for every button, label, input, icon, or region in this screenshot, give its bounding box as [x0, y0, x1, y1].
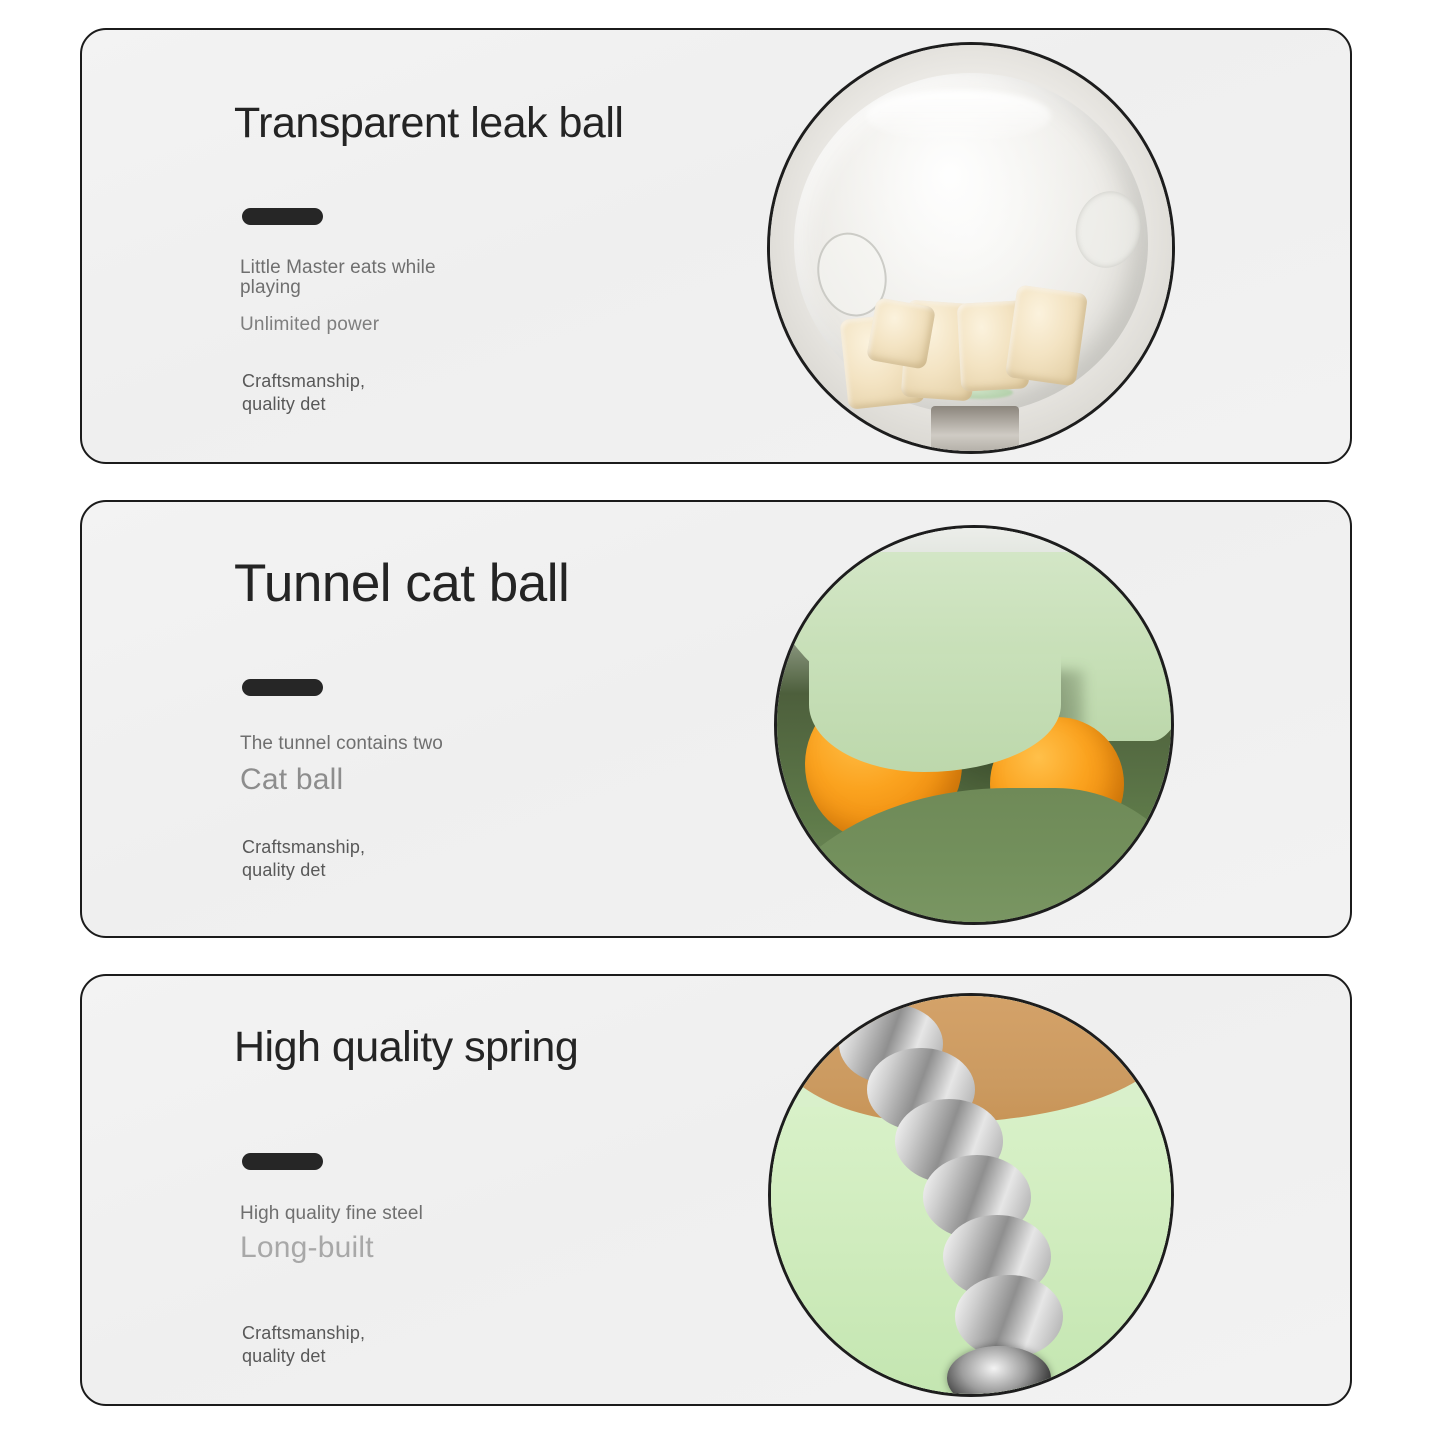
card-title: Tunnel cat ball	[234, 557, 569, 610]
card-title: High quality spring	[234, 1026, 578, 1069]
card-subtitle-block: The tunnel contains two Cat ball	[240, 734, 680, 796]
card-text-column: High quality spring High quality fine st…	[234, 976, 704, 1404]
card-text-column: Transparent leak ball Little Master eats…	[234, 30, 704, 462]
product-feature-page: Transparent leak ball Little Master eats…	[0, 0, 1445, 1445]
photo-inner	[771, 996, 1171, 1394]
treat-cube	[1004, 285, 1087, 387]
treat-cluster	[838, 285, 1111, 407]
tunnel-cat-ball-photo	[774, 525, 1174, 925]
card-footnote: Craftsmanship, quality det	[242, 1322, 365, 1368]
photo-inner	[770, 45, 1172, 451]
card-subtitle-secondary: Long-built	[240, 1231, 680, 1264]
spring-icon	[1108, 536, 1124, 566]
card-subtitle-block: High quality fine steel Long-built	[240, 1204, 680, 1264]
metal-spring-photo	[768, 993, 1174, 1397]
ball-base-neck	[931, 406, 1019, 454]
card-subtitle-primary: Little Master eats while playing	[240, 258, 455, 298]
card-text-column: Tunnel cat ball The tunnel contains two …	[234, 502, 704, 936]
card-title: Transparent leak ball	[234, 102, 623, 145]
card-footnote: Craftsmanship, quality det	[242, 836, 365, 882]
card-subtitle-primary: High quality fine steel	[240, 1204, 455, 1224]
divider-dash-icon	[242, 679, 323, 696]
card-footnote: Craftsmanship, quality det	[242, 370, 365, 416]
feature-card-transparent-leak-ball[interactable]: Transparent leak ball Little Master eats…	[80, 28, 1352, 464]
divider-dash-icon	[242, 208, 323, 225]
card-subtitle-secondary: Cat ball	[240, 763, 680, 796]
card-subtitle-primary: The tunnel contains two	[240, 734, 455, 754]
card-subtitle-block: Little Master eats while playing Unlimit…	[240, 258, 680, 334]
feature-card-high-quality-spring[interactable]: High quality spring High quality fine st…	[80, 974, 1352, 1406]
transparent-treat-ball-photo	[767, 42, 1175, 454]
card-subtitle-secondary: Unlimited power	[240, 315, 680, 335]
feature-card-tunnel-cat-ball[interactable]: Tunnel cat ball The tunnel contains two …	[80, 500, 1352, 938]
treat-cube	[866, 297, 936, 370]
divider-dash-icon	[242, 1153, 323, 1170]
photo-inner	[777, 528, 1171, 922]
globe-highlight	[866, 90, 1051, 143]
